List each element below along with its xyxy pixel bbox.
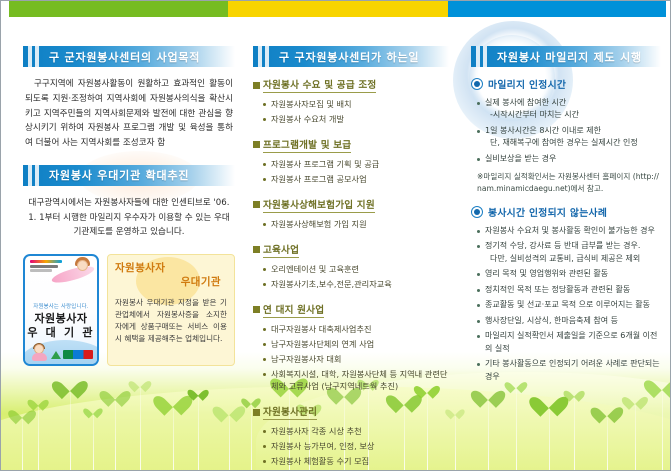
mileage-item-text: 실비보상을 받는 경우 — [485, 153, 661, 165]
preferred-orgs-paragraph: 대구광역시에서는 자원봉사자들에 대한 인센티브로 '06. 1. 1부터 시행… — [23, 196, 235, 240]
card-title-line1: 자원봉사자 — [25, 312, 97, 326]
dot-bullet-icon — [263, 118, 266, 121]
flower-stem — [198, 395, 199, 470]
heart-flower-icon — [31, 395, 44, 408]
volunteer-preferred-org-card: 자원봉사는 사랑입니다. 자원봉사자 우 대 기 관 — [23, 254, 99, 366]
mileage-group-title: 봉사시간 인정되지 않는사례 — [488, 205, 607, 219]
mileage-group-title: 마일리지 인정시간 — [488, 77, 566, 91]
daegu-city-mark-icon — [51, 350, 93, 359]
dot-bullet-icon — [477, 289, 480, 292]
dot-bullet-icon — [477, 245, 480, 248]
activity-group-title: 자원봉사 수요 및 공급 조정 — [263, 77, 376, 93]
square-bullet-icon — [253, 409, 260, 416]
activity-group-title: 프로그램개발 및 보급 — [263, 137, 351, 153]
activity-item-text: 사회복지시설, 대학, 자원봉사단체 등 지역내 관련단체와 고류사업 (남구지… — [271, 368, 449, 394]
flower-stem — [662, 391, 663, 470]
dot-bullet-icon — [263, 430, 266, 433]
activity-item-text: 자원봉사상해보험 가입 지원 — [271, 218, 449, 231]
activity-item: 자원봉사 수요처 개발 — [253, 113, 449, 126]
dot-bullet-icon — [263, 178, 266, 181]
section-header-mileage: 자원봉사 마일리지 제도 시행 — [471, 46, 661, 67]
dot-bullet-icon — [477, 304, 480, 307]
child-body — [32, 353, 47, 361]
header-tick-icon — [35, 165, 39, 186]
mileage-item: 영리 목적 및 영업행위와 관련된 활동 — [471, 268, 661, 280]
header-tick-icon — [483, 46, 487, 67]
activity-group: 고육사업오리엔테이션 및 고육훈련자원봉사기초,보수,전문,관리자교육 — [253, 242, 449, 291]
section-title-preferred-orgs: 자원봉사 우대기관 확대추진 — [49, 167, 189, 183]
activity-item-text: 자원봉사기초,보수,전문,관리자교육 — [271, 278, 449, 291]
top-color-bar — [1, 1, 671, 17]
flower-stem — [140, 387, 141, 470]
flower-stem — [455, 414, 456, 470]
dot-bullet-icon — [477, 102, 480, 105]
dot-bullet-icon — [477, 158, 480, 161]
heart-flower-icon — [627, 391, 643, 407]
activity-group: 자원봉사관리자원봉사자 각종 시상 추천자원봉사 능가부여, 인정, 보상자원봉… — [253, 404, 449, 468]
activity-item: 자원봉사 프로그램 기획 및 공급 — [253, 158, 449, 171]
mileage-item-text: 행사장단일, 시상식, 한마음축제 참여 등 — [485, 315, 661, 327]
mileage-group-header: 봉사시간 인정되지 않는사례 — [471, 205, 661, 219]
middle-column: 구 구자원봉사센터가 하는일 자원봉사 수요 및 공급 조정자원봉사자모집 및 … — [253, 46, 449, 471]
heart-flower-icon — [161, 387, 185, 411]
mileage-group-list: 마일리지 인정시간실제 봉사에 참여한 시간-시작시간부터 마치는 시간1일 봉… — [471, 77, 661, 383]
activity-item-text: 대구자원봉사 대축제사업추진 — [271, 323, 449, 336]
topbar-segment-green — [1, 1, 228, 17]
activity-group-header: 자원봉사 수요 및 공급 조정 — [253, 77, 449, 93]
topbar-right-margin — [666, 1, 670, 17]
mileage-group-header: 마일리지 인정시간 — [471, 77, 661, 91]
square-bullet-icon — [253, 82, 260, 89]
infobox-title-line1: 자원봉사자 — [115, 261, 227, 275]
dot-bullet-icon — [477, 320, 480, 323]
dot-bullet-icon — [263, 223, 266, 226]
infobox-title-line2: 우대기관 — [115, 275, 227, 289]
dot-bullet-icon — [263, 328, 266, 331]
activity-group-header: 고육사업 — [253, 242, 449, 258]
activity-item: 자원봉사 체험활동 수기 모집 — [253, 455, 449, 468]
flower-stem — [115, 400, 116, 470]
activity-group: 자원봉사상해보험가입 지원자원봉사상해보험 가입 지원 — [253, 197, 449, 231]
heart-flower-icon — [133, 376, 147, 390]
header-tick-icon — [476, 46, 480, 67]
dot-bullet-icon — [263, 103, 266, 106]
ribbon-shape — [50, 263, 95, 286]
activity-item: 자원봉사자 각종 시상 추천 — [253, 425, 449, 438]
flower-stem — [635, 404, 636, 470]
section-title-activities: 구 구자원봉사센터가 하는일 — [279, 49, 419, 65]
heart-flower-icon — [449, 405, 461, 417]
mileage-item-text: 종교활동 및 선교·포교 목적 으로 이루어지는 활동 — [485, 299, 661, 311]
flower-stem — [607, 417, 608, 470]
mileage-item: 행사장단일, 시상식, 한마음축제 참여 등 — [471, 315, 661, 327]
mileage-item-text: 실제 봉사에 참여한 시간-시작시간부터 마치는 시간 — [485, 97, 661, 122]
activity-item: 자원봉사 능가부여, 인정, 보상 — [253, 440, 449, 453]
activity-group-header: 자원봉사상해보험가입 지원 — [253, 197, 449, 213]
mileage-item: 실제 봉사에 참여한 시간-시작시간부터 마치는 시간 — [471, 97, 661, 122]
activity-item: 남구자원봉사단체의 연계 사업 — [253, 338, 449, 351]
section-title-mileage: 자원봉사 마일리지 제도 시행 — [497, 49, 642, 65]
flower-stem — [251, 403, 252, 470]
dot-bullet-icon — [263, 373, 266, 376]
activity-group-title: 자원봉사상해보험가입 지원 — [263, 197, 375, 213]
square-bullet-icon — [253, 246, 260, 253]
activity-item: 자원봉사상해보험 가입 지원 — [253, 218, 449, 231]
circle-bullet-icon — [471, 206, 483, 218]
mileage-group: 봉사시간 인정되지 않는사례자원봉사 수요처 및 봉사활동 확인이 불가능한 경… — [471, 205, 661, 383]
mileage-item: 정치적인 목적 또는 정당활동과 관련된 활동 — [471, 284, 661, 296]
activity-item: 사회복지시설, 대학, 자원봉사단체 등 지역내 관련단체와 고류사업 (남구지… — [253, 368, 449, 394]
card-title-line2: 우 대 기 관 — [25, 326, 97, 340]
dot-bullet-icon — [263, 460, 266, 463]
mileage-item: 기타 봉사활동으로 인정되기 어려운 사례로 판단되는 경우 — [471, 358, 661, 383]
activity-group: 프로그램개발 및 보급자원봉사 프로그램 기획 및 공급자원봉사 프로그램 공모… — [253, 137, 449, 186]
flower-stem — [173, 408, 174, 470]
header-tick-icon — [35, 46, 39, 67]
topbar-segment-blue — [448, 1, 671, 17]
activity-item-text: 자원봉사 수요처 개발 — [271, 113, 449, 126]
header-tick-icon — [258, 46, 262, 67]
activity-item: 자원봉사기초,보수,전문,관리자교육 — [253, 278, 449, 291]
heart-flower-icon — [191, 385, 204, 398]
heart-flower-icon — [59, 373, 81, 395]
logo-stripe — [30, 265, 58, 268]
mileage-item-text: 정기적 수당, 강사료 등 반대 급부를 받는 경우.다만, 실비성격의 교통비… — [485, 240, 661, 265]
left-column: 구 군자원봉사센터의 사업목적 구구지역에 자원봉사활동이 원활하고 효과적인 … — [23, 46, 235, 366]
dot-bullet-icon — [477, 273, 480, 276]
activity-item: 오리엔테이션 및 고육훈련 — [253, 263, 449, 276]
infobox-description: 자원봉사 우대기관 지정을 받은 기관업체에서 자원봉사증을 소지한 자에게 상… — [115, 297, 227, 346]
flower-stem — [229, 416, 230, 470]
mileage-item: 실비보상을 받는 경우 — [471, 153, 661, 165]
logo-stripe — [30, 269, 52, 272]
activity-group: 연 대지 원사업대구자원봉사 대축제사업추진남구자원봉사단체의 연계 사업남구자… — [253, 302, 449, 394]
activity-item-text: 자원봉사자 각종 시상 추천 — [271, 425, 449, 438]
activity-group: 자원봉사 수요 및 공급 조정자원봉사자모집 및 배치자원봉사 수요처 개발 — [253, 77, 449, 126]
dot-bullet-icon — [263, 445, 266, 448]
right-column: 자원봉사 마일리지 제도 시행 마일리지 인정시간실제 봉사에 참여한 시간-시… — [471, 46, 661, 392]
square-bullet-icon — [253, 201, 260, 208]
circle-bullet-icon — [471, 78, 483, 90]
flower-stem — [549, 409, 550, 470]
heart-flower-icon — [13, 404, 30, 421]
dot-bullet-icon — [263, 358, 266, 361]
dot-bullet-icon — [263, 163, 266, 166]
mileage-item: 종교활동 및 선교·포교 목적 으로 이루어지는 활동 — [471, 299, 661, 311]
brochure-page: 구 군자원봉사센터의 사업목적 구구지역에 자원봉사활동이 원활하고 효과적인 … — [0, 0, 671, 471]
dot-bullet-icon — [263, 283, 266, 286]
activity-group-title: 자원봉사관리 — [263, 404, 317, 420]
mileage-item-text: 영리 목적 및 영업행위와 관련된 활동 — [485, 268, 661, 280]
mileage-item-subtext: -시작시간부터 마치는 시간 — [485, 109, 661, 121]
dot-bullet-icon — [477, 335, 480, 338]
activity-item-text: 자원봉사 프로그램 기획 및 공급 — [271, 158, 449, 171]
card-and-infobox-row: 자원봉사는 사랑입니다. 자원봉사자 우 대 기 관 — [23, 254, 235, 366]
dot-bullet-icon — [477, 230, 480, 233]
infobox-title: 자원봉사자 우대기관 — [115, 261, 227, 289]
activity-group-header: 자원봉사관리 — [253, 404, 449, 420]
mountain-icon — [51, 351, 61, 359]
header-tick-icon — [265, 46, 269, 67]
heart-flower-icon — [87, 404, 99, 416]
card-title: 자원봉사자 우 대 기 관 — [25, 312, 97, 340]
section-header-activities: 구 구자원봉사센터가 하는일 — [253, 46, 449, 67]
topbar-segment-yellow — [228, 1, 448, 17]
topbar-left-margin — [1, 1, 9, 17]
activity-item: 자원봉사 프로그램 공모사업 — [253, 173, 449, 186]
section-title-purpose: 구 군자원봉사센터의 사업목적 — [49, 49, 200, 65]
activity-item-text: 자원봉사 능가부여, 인정, 보상 — [271, 440, 449, 453]
flower-stem — [93, 413, 94, 470]
square-bullet-icon — [253, 141, 260, 148]
mileage-item-text: 마일리지 실적확인서 제출일을 기준으로 6개월 이전의 실적 — [485, 330, 661, 355]
activity-item-text: 오리엔테이션 및 고육훈련 — [271, 263, 449, 276]
preferred-org-info-box: 자원봉사자 우대기관 자원봉사 우대기관 지정을 받은 기관업체에서 자원봉사증… — [107, 254, 235, 366]
mileage-item-text: 정치적인 목적 또는 정당활동과 관련된 활동 — [485, 284, 661, 296]
dot-bullet-icon — [477, 130, 480, 133]
card-subtitle: 자원봉사는 사랑입니다. — [25, 302, 97, 310]
mileage-item-subtext: 단, 재해복구에 참여한 경우는 실제시간 인정 — [485, 137, 661, 149]
mileage-item-subtext: 다만, 실비성격의 교통비, 급식비 제공은 제외 — [485, 253, 661, 265]
activity-group-header: 프로그램개발 및 보급 — [253, 137, 449, 153]
mileage-item: 정기적 수당, 강사료 등 반대 급부를 받는 경우.다만, 실비성격의 교통비… — [471, 240, 661, 265]
activity-group-title: 고육사업 — [263, 242, 299, 258]
mileage-item-text: 1일 봉사시간은 8시간 이내로 제한단, 재해복구에 참여한 경우는 실제시간… — [485, 125, 661, 150]
flower-stem — [38, 405, 39, 470]
mileage-item: 자원봉사 수요처 및 봉사활동 확인이 불가능한 경우 — [471, 225, 661, 237]
heart-flower-icon — [219, 399, 239, 419]
dot-bullet-icon — [263, 343, 266, 346]
header-tick-icon — [28, 46, 32, 67]
square-bullet-icon — [253, 306, 260, 313]
mileage-item: 마일리지 실적확인서 제출일을 기준으로 6개월 이전의 실적 — [471, 330, 661, 355]
mileage-note: ※마일리지 실적확인서는 자원봉사센터 홈페이지 (http://nam.min… — [471, 171, 661, 195]
activity-item-text: 남구자원봉사자 대회 — [271, 353, 449, 366]
activity-group-title: 연 대지 원사업 — [263, 302, 324, 318]
child-illustration-icon — [31, 344, 48, 361]
flower-stem — [22, 418, 23, 470]
flower-stem — [516, 388, 517, 470]
activity-item-text: 자원봉사 프로그램 공모사업 — [271, 173, 449, 186]
flower-stem — [574, 396, 575, 470]
activity-item-text: 남구자원봉사단체의 연계 사업 — [271, 338, 449, 351]
mileage-item-text: 자원봉사 수요처 및 봉사활동 확인이 불가능한 경우 — [485, 225, 661, 237]
heart-flower-icon — [597, 400, 617, 420]
mileage-group: 마일리지 인정시간실제 봉사에 참여한 시간-시작시간부터 마치는 시간1일 봉… — [471, 77, 661, 195]
activity-item: 대구자원봉사 대축제사업추진 — [253, 323, 449, 336]
purpose-paragraph: 구구지역에 자원봉사활동이 원활하고 효과적인 활동이 되도록 지원·조정하여 … — [23, 77, 235, 151]
activity-item-text: 자원봉사 체험활동 수기 모집 — [271, 455, 449, 468]
flower-stem — [70, 392, 71, 470]
activities-group-list: 자원봉사 수요 및 공급 조정자원봉사자모집 및 배치자원봉사 수요처 개발프로… — [253, 77, 449, 468]
mileage-item-text: 기타 봉사활동으로 인정되기 어려운 사례로 판단되는 경우 — [485, 358, 661, 383]
activity-item: 자원봉사자모집 및 배치 — [253, 98, 449, 111]
activity-group-header: 연 대지 원사업 — [253, 302, 449, 318]
dot-bullet-icon — [263, 268, 266, 271]
fairy-illustration-icon — [55, 257, 95, 293]
section-header-purpose: 구 군자원봉사센터의 사업목적 — [23, 46, 235, 67]
flower-stem — [488, 401, 489, 470]
dot-bullet-icon — [477, 363, 480, 366]
activity-item: 남구자원봉사자 대회 — [253, 353, 449, 366]
mileage-note-url[interactable]: (http://nam.minamicdaegu.net)에서 참고. — [477, 172, 659, 193]
section-header-preferred-orgs: 자원봉사 우대기관 확대추진 — [23, 165, 235, 186]
mileage-item: 1일 봉사시간은 8시간 이내로 제한단, 재해복구에 참여한 경우는 실제시간… — [471, 125, 661, 150]
activity-item-text: 자원봉사자모집 및 배치 — [271, 98, 449, 111]
city-wordmark — [63, 350, 93, 359]
header-tick-icon — [28, 165, 32, 186]
heart-flower-icon — [105, 384, 124, 403]
